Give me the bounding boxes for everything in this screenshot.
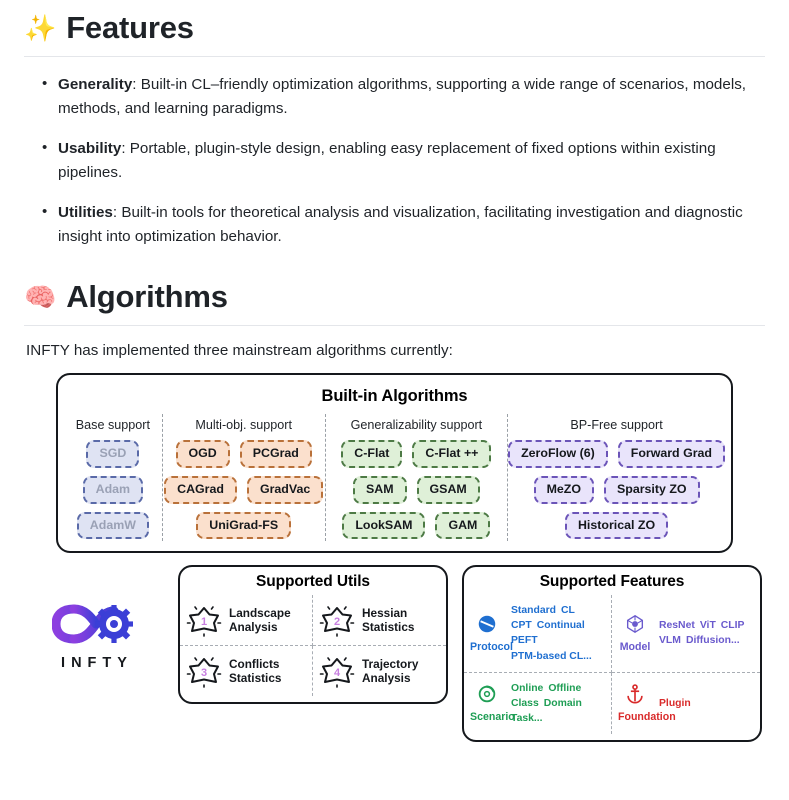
- column-header: Base support: [64, 414, 162, 440]
- column-rows: OGDPCGradCAGradGradVacUniGrad-FS: [163, 440, 325, 541]
- builtin-algorithms-panel: Built-in Algorithms Base supportSGDAdamA…: [56, 373, 733, 553]
- supported-features-title: Supported Features: [464, 567, 760, 595]
- algorithm-row: SAMGSAM: [326, 476, 507, 504]
- feature-tag: Plugin: [659, 696, 691, 711]
- algorithm-chip[interactable]: GAM: [435, 512, 490, 540]
- util-label: Hessian Statistics: [362, 606, 414, 635]
- star-number: 1: [186, 603, 222, 637]
- algorithm-row: ZeroFlow (6)Forward Grad: [508, 440, 725, 468]
- feature-tag: Diffusion...: [686, 633, 740, 648]
- bullet-text: Portable, plugin-style design, enabling …: [58, 140, 716, 181]
- feature-tag: Online: [511, 681, 543, 696]
- bullet-sep: :: [121, 140, 129, 157]
- util-cell[interactable]: 2 Hessian Statistics: [313, 595, 446, 646]
- star-icon: 3: [186, 654, 222, 688]
- feature-tags: StandardCLCPTContinualPEFTPTM-based CL..…: [511, 603, 605, 663]
- algorithm-chip[interactable]: PCGrad: [240, 440, 312, 468]
- feature-tag: Continual: [537, 618, 585, 633]
- bullet-term: Utilities: [58, 204, 113, 221]
- feature-tag: Offline: [548, 681, 581, 696]
- algorithm-column: Base supportSGDAdamAdamW: [64, 414, 162, 541]
- infinity-gear-logo-icon: [52, 601, 136, 647]
- util-cell[interactable]: 4 Trajectory Analysis: [313, 646, 446, 696]
- bullet-text: Built-in CL–friendly optimization algori…: [58, 76, 746, 117]
- algorithm-row: Historical ZO: [508, 512, 725, 540]
- algorithm-chip[interactable]: CAGrad: [164, 476, 237, 504]
- algorithm-row: OGDPCGrad: [163, 440, 325, 468]
- algorithm-chip[interactable]: OGD: [176, 440, 230, 468]
- heading-divider: [24, 325, 765, 326]
- algorithm-row: AdamW: [64, 512, 162, 540]
- feature-tag: Task...: [511, 711, 543, 726]
- util-label: Conflicts Statistics: [229, 657, 281, 686]
- anchor-icon: [624, 683, 646, 705]
- page-root: ✨ Features Generality: Built-in CL–frien…: [0, 0, 789, 800]
- feature-tag: CPT: [511, 618, 532, 633]
- algorithm-chip[interactable]: SAM: [353, 476, 407, 504]
- feature-tag: VLM: [659, 633, 681, 648]
- algorithm-chip[interactable]: GSAM: [417, 476, 480, 504]
- feature-tag: Domain: [544, 696, 582, 711]
- infty-logo: INFTY: [24, 565, 164, 671]
- star-icon: 1: [186, 603, 222, 637]
- feature-cell[interactable]: Model ResNetViTCLIPVLMDiffusion...: [612, 595, 760, 672]
- algorithm-chip[interactable]: Historical ZO: [565, 512, 668, 540]
- feature-tags: ResNetViTCLIPVLMDiffusion...: [659, 618, 754, 648]
- algorithm-column: BP-Free supportZeroFlow (6)Forward GradM…: [507, 414, 725, 541]
- algorithm-chip[interactable]: C-Flat: [341, 440, 402, 468]
- algorithm-row: MeZOSparsity ZO: [508, 476, 725, 504]
- util-label: Trajectory Analysis: [362, 657, 418, 686]
- bullet-text: Built-in tools for theoretical analysis …: [58, 204, 743, 245]
- util-cell[interactable]: 3 Conflicts Statistics: [180, 646, 313, 696]
- algorithm-chip[interactable]: AdamW: [77, 512, 149, 540]
- scenario-icon: [476, 683, 498, 705]
- column-rows: C-FlatC-Flat ++SAMGSAMLookSAMGAM: [326, 440, 507, 541]
- feature-tag: PTM-based CL...: [511, 649, 592, 664]
- column-rows: ZeroFlow (6)Forward GradMeZOSparsity ZOH…: [508, 440, 725, 541]
- feature-tag: CL: [561, 603, 575, 618]
- supported-utils-title: Supported Utils: [180, 567, 446, 595]
- star-icon: 2: [319, 603, 355, 637]
- star-number: 2: [319, 603, 355, 637]
- column-rows: SGDAdamAdamW: [64, 440, 162, 541]
- algorithm-chip[interactable]: C-Flat ++: [412, 440, 491, 468]
- algorithm-row: SGD: [64, 440, 162, 468]
- features-title: Features: [66, 10, 194, 46]
- supported-utils-panel: Supported Utils 1 Landscape Analysis: [178, 565, 448, 704]
- feature-icon-label: Model: [618, 641, 652, 653]
- bullet-sep: :: [132, 76, 140, 93]
- list-item: Generality: Built-in CL–friendly optimiz…: [42, 73, 759, 120]
- column-header: BP-Free support: [508, 414, 725, 440]
- algorithm-column: Generalizability supportC-FlatC-Flat ++S…: [325, 414, 507, 541]
- anchor-icon-wrap: Foundation: [618, 683, 652, 723]
- feature-tag: PEFT: [511, 633, 538, 648]
- list-item: Utilities: Built-in tools for theoretica…: [42, 201, 759, 248]
- algorithm-row: UniGrad-FS: [163, 512, 325, 540]
- feature-tag: Class: [511, 696, 539, 711]
- features-heading: ✨ Features: [24, 0, 765, 57]
- scenario-icon-wrap: Scenario: [470, 683, 504, 723]
- feature-tag: CLIP: [721, 618, 745, 633]
- feature-cell[interactable]: Foundation Plugin: [612, 673, 760, 734]
- column-header: Generalizability support: [326, 414, 507, 440]
- algorithm-columns: Base supportSGDAdamAdamWMulti-obj. suppo…: [64, 414, 725, 541]
- algorithm-chip[interactable]: LookSAM: [342, 512, 425, 540]
- feature-icon-label: Protocol: [470, 641, 504, 653]
- model-cube-icon: [624, 613, 646, 635]
- feature-cell[interactable]: Protocol StandardCLCPTContinualPEFTPTM-b…: [464, 595, 612, 672]
- bullet-term: Usability: [58, 140, 121, 157]
- algorithm-chip[interactable]: UniGrad-FS: [196, 512, 291, 540]
- feature-icon-label: Scenario: [470, 711, 504, 723]
- infty-logo-text: INFTY: [55, 655, 133, 671]
- algorithms-title: Algorithms: [66, 279, 228, 315]
- algorithms-heading: 🧠 Algorithms: [24, 265, 765, 326]
- sparkles-icon: ✨: [24, 15, 56, 41]
- algorithms-intro: INFTY has implemented three mainstream a…: [24, 342, 765, 359]
- algorithm-chip[interactable]: Forward Grad: [618, 440, 725, 468]
- bullet-term: Generality: [58, 76, 132, 93]
- algorithm-row: C-FlatC-Flat ++: [326, 440, 507, 468]
- utils-grid: 1 Landscape Analysis 2 Hessian Statistic…: [180, 595, 446, 696]
- util-cell[interactable]: 1 Landscape Analysis: [180, 595, 313, 646]
- feature-tags: Plugin: [659, 696, 696, 711]
- algorithm-chip[interactable]: Adam: [83, 476, 143, 504]
- supported-features-panel: Supported Features Protocol StandardCLCP…: [462, 565, 762, 742]
- algorithm-row: Adam: [64, 476, 162, 504]
- protocol-icon-wrap: Protocol: [470, 613, 504, 653]
- star-number: 3: [186, 654, 222, 688]
- features-list: Generality: Built-in CL–friendly optimiz…: [24, 73, 765, 248]
- architecture-diagram: Built-in Algorithms Base supportSGDAdamA…: [24, 373, 765, 741]
- model-cube-icon-wrap: Model: [618, 613, 652, 653]
- algorithm-chip[interactable]: MeZO: [534, 476, 594, 504]
- feature-tag: ViT: [700, 618, 716, 633]
- builtin-algorithms-title: Built-in Algorithms: [64, 379, 725, 410]
- feature-tag: ResNet: [659, 618, 695, 633]
- feature-tag: Standard: [511, 603, 556, 618]
- algorithm-column: Multi-obj. supportOGDPCGradCAGradGradVac…: [162, 414, 325, 541]
- diagram-bottom-row: INFTY Supported Utils 1 Landscape Analys…: [24, 565, 765, 742]
- algorithm-chip[interactable]: SGD: [86, 440, 139, 468]
- feature-cell[interactable]: Scenario OnlineOfflineClassDomainTask...: [464, 673, 612, 734]
- algorithm-row: CAGradGradVac: [163, 476, 325, 504]
- heading-divider: [24, 56, 765, 57]
- column-header: Multi-obj. support: [163, 414, 325, 440]
- feature-tags: OnlineOfflineClassDomainTask...: [511, 681, 605, 726]
- algorithm-chip[interactable]: Sparsity ZO: [604, 476, 700, 504]
- brain-icon: 🧠: [24, 284, 56, 310]
- algorithm-chip[interactable]: ZeroFlow (6): [508, 440, 608, 468]
- list-item: Usability: Portable, plugin-style design…: [42, 137, 759, 184]
- util-label: Landscape Analysis: [229, 606, 291, 635]
- star-number: 4: [319, 654, 355, 688]
- algorithm-chip[interactable]: GradVac: [247, 476, 323, 504]
- feature-icon-label: Foundation: [618, 711, 652, 723]
- star-icon: 4: [319, 654, 355, 688]
- protocol-icon: [476, 613, 498, 635]
- features-grid: Protocol StandardCLCPTContinualPEFTPTM-b…: [464, 595, 760, 734]
- algorithm-row: LookSAMGAM: [326, 512, 507, 540]
